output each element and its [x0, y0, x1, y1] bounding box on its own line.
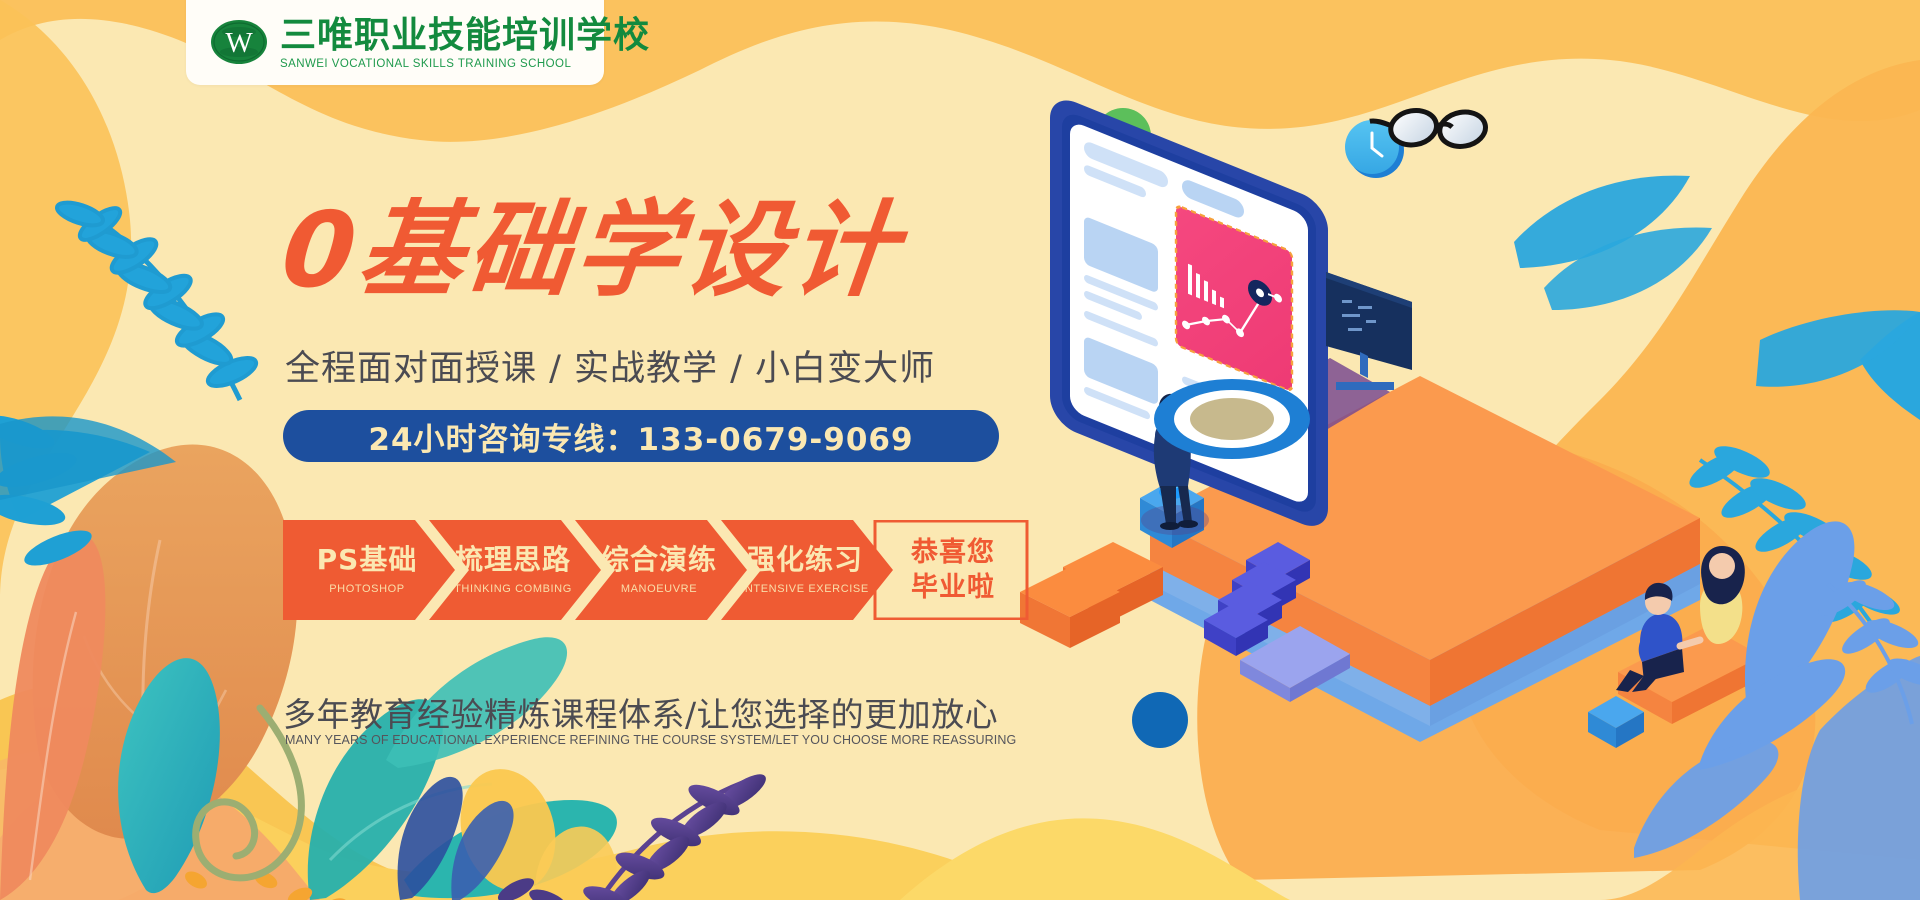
banner-canvas: W 三唯职业技能培训学校 SANWEI VOCATIONAL SKILLS TR… — [0, 0, 1920, 900]
svg-text:W: W — [225, 27, 253, 59]
step-label-en: MANOEUVRE — [621, 583, 697, 595]
step-item-graduation[interactable]: 恭喜您 毕业啦 — [883, 520, 1023, 620]
step-label-en: PHOTOSHOP — [329, 583, 405, 595]
step-item-2[interactable]: 梳理思路 THINKING COMBING — [443, 520, 583, 620]
blue-dot-decoration — [1132, 692, 1188, 748]
step-label-cn: PS基础 — [317, 545, 418, 574]
step-label-cn: 强化练习 — [747, 545, 863, 574]
step-label-en: THINKING COMBING — [454, 583, 572, 595]
step-item-4[interactable]: 强化练习 INTENSIVE EXERCISE — [735, 520, 875, 620]
step-item-3[interactable]: 综合演练 MANOEUVRE — [589, 520, 729, 620]
copy-block: 0基础学设计 全程面对面授课 / 实战教学 / 小白变大师 24小时咨询专线：1… — [0, 0, 1100, 900]
subtitle: 全程面对面授课 / 实战教学 / 小白变大师 — [285, 340, 935, 391]
step-label-cn: 综合演练 — [601, 545, 717, 574]
school-logo-card[interactable]: W 三唯职业技能培训学校 SANWEI VOCATIONAL SKILLS TR… — [186, 0, 604, 85]
slogan-cn: 多年教育经验精炼课程体系/让您选择的更加放心 — [283, 688, 998, 736]
graduation-label-line2: 毕业啦 — [911, 570, 995, 605]
course-steps: PS基础 PHOTOSHOP 梳理思路 THINKING COMBING 综合演… — [283, 520, 1159, 620]
school-emblem-icon: W — [210, 18, 268, 71]
school-name-en: SANWEI VOCATIONAL SKILLS TRAINING SCHOOL — [280, 59, 650, 71]
step-item-1[interactable]: PS基础 PHOTOSHOP — [297, 520, 437, 620]
step-label-cn: 梳理思路 — [455, 545, 571, 574]
hotline-text: 24小时咨询专线：133-0679-9069 — [368, 414, 913, 459]
slogan-en: MANY YEARS OF EDUCATIONAL EXPERIENCE REF… — [285, 733, 1016, 747]
hotline-banner[interactable]: 24小时咨询专线：133-0679-9069 — [283, 410, 999, 462]
blue-ring-rug — [1154, 379, 1310, 459]
school-name-cn: 三唯职业技能培训学校 — [280, 18, 650, 54]
page-title: 0基础学设计 — [278, 198, 905, 302]
graduation-label-line1: 恭喜您 — [911, 535, 995, 570]
step-label-en: INTENSIVE EXERCISE — [741, 583, 869, 595]
